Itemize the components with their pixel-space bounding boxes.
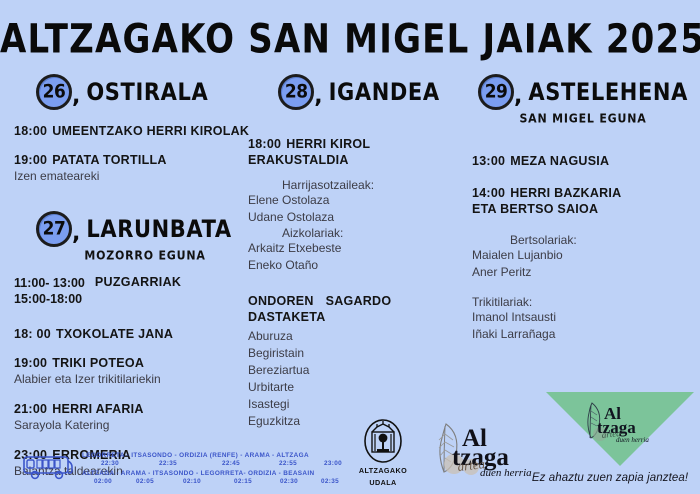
event-label: HERRI AFARIA [52, 402, 143, 416]
bus-time: 02:00 [82, 478, 124, 485]
event-28-cider: ONDORENSAGARDO DASTAKETA [248, 293, 470, 325]
list-item: Bereziartua [248, 362, 470, 379]
bus-route-1: LEGORRETA - ITSASONDO - ORDIZIA (RENFE) … [82, 452, 354, 467]
day-number-28: 28 [285, 81, 308, 103]
list-item: Isastegi [248, 396, 470, 413]
bus-time: 22:35 [138, 460, 198, 467]
list-item: Udane Ostolaza [248, 209, 470, 226]
event-26-1: 18:00UMEENTZAKO HERRI KIROLAK [14, 123, 250, 139]
group-label-trikitilariak: Trikitilariak: [472, 295, 694, 309]
page-title: ALTZAGAKO SAN MIGEL JAIAK 2025 [0, 16, 700, 63]
name-list-trikitilariak: Imanol Intsausti Iñaki Larrañaga [472, 309, 694, 343]
day-number-badge-26: 26 [36, 74, 72, 110]
group-label-aizkolariak: Aizkolariak: [248, 226, 470, 240]
event-time-1: 11:00- 13:00 [14, 275, 85, 292]
day-comma-27: , [72, 223, 80, 247]
poster-root: ALTZAGAKO SAN MIGEL JAIAK 2025 26 , OSTI… [0, 0, 700, 494]
day-number-27: 27 [43, 218, 66, 240]
logo-udala-line1: ALTZAGAKO [352, 466, 414, 476]
scarf-altzaga-logo: Al tzaga artea duen herria [578, 400, 662, 446]
bus-time: 22:30 [82, 460, 138, 467]
column-right: 29 , ASTELEHENA SAN MIGEL EGUNA 13:00MEZ… [472, 74, 694, 343]
name-list-bertsolariak: Maialen Lujanbio Aner Peritz [472, 247, 694, 281]
day-number-badge-27: 27 [36, 211, 72, 247]
logo-udala-line2: UDALA [352, 478, 414, 488]
event-label: UMEENTZAKO HERRI KIROLAK [52, 124, 249, 138]
event-time: 19:00 [14, 153, 47, 167]
list-item: Begiristain [248, 345, 470, 362]
event-time: 13:00 [472, 154, 505, 168]
event-note: Alabier eta Izer trikitilariekin [14, 372, 250, 388]
event-label: TXOKOLATE JANA [56, 327, 173, 341]
event-time: 18:00 [248, 137, 281, 151]
bus-route-times: 22:30 22:35 22:45 22:55 23:00 [82, 460, 354, 467]
bus-routes: LEGORRETA - ITSASONDO - ORDIZIA (RENFE) … [82, 452, 354, 488]
day-comma-29: , [514, 86, 522, 110]
day-number-26: 26 [43, 81, 66, 103]
bus-icon [22, 454, 74, 487]
group-label-harrijasotzaileak: Harrijasotzaileak: [248, 178, 470, 192]
coat-of-arms-icon [363, 418, 403, 464]
list-item: Aner Peritz [472, 264, 694, 281]
bus-route-stops: ALTZAGA - ARAMA - ITSASONDO - LEGORRETA-… [82, 470, 354, 477]
name-list-sagardotegiak: Aburuza Begiristain Bereziartua Urbitart… [248, 328, 470, 430]
cider-heading-a: ONDOREN [248, 294, 314, 308]
bus-time: 22:55 [264, 460, 312, 467]
group-label-bertsolariak: Bertsolariak: [472, 233, 694, 247]
day-heading-29: 29 , ASTELEHENA [472, 74, 694, 110]
bus-time: 02:10 [166, 478, 218, 485]
event-label: PATATA TORTILLA [52, 153, 166, 167]
day-name-28: IGANDEA [329, 78, 440, 106]
column-left: 26 , OSTIRALA 18:00UMEENTZAKO HERRI KIRO… [14, 74, 250, 479]
event-label: MEZA NAGUSIA [510, 154, 609, 168]
event-time-2: 15:00-18:00 [14, 291, 85, 308]
day-heading-27: 27 , LARUNBATA [14, 211, 250, 247]
list-item: Maialen Lujanbio [472, 247, 694, 264]
name-list-harrijasotzaileak: Elene Ostolaza Udane Ostolaza [248, 192, 470, 226]
list-item: Aburuza [248, 328, 470, 345]
bus-schedule: LEGORRETA - ITSASONDO - ORDIZIA (RENFE) … [22, 452, 354, 488]
list-item: Imanol Intsausti [472, 309, 694, 326]
event-time: 18: 00 [14, 327, 51, 341]
list-item: Eneko Otaño [248, 257, 470, 274]
event-time: 14:00 [472, 186, 505, 200]
day-name-29: ASTELEHENA [528, 78, 688, 106]
event-27-puzgarriak: 11:00- 13:00 15:00-18:00 PUZGARRIAK [14, 275, 250, 309]
event-note: Sarayola Katering [14, 418, 250, 434]
list-item: Urbitarte [248, 379, 470, 396]
bus-time: 02:30 [268, 478, 310, 485]
bus-time: 02:35 [310, 478, 350, 485]
day-number-badge-29: 29 [478, 74, 514, 110]
bus-route-times: 02:00 02:05 02:10 02:15 02:30 02:35 [82, 478, 354, 485]
bus-time: 02:15 [218, 478, 268, 485]
day-heading-26: 26 , OSTIRALA [14, 74, 250, 110]
event-27-2: 19:00TRIKI POTEOA Alabier eta Izer triki… [14, 355, 250, 388]
event-27-1: 18: 00TXOKOLATE JANA [14, 326, 250, 342]
day-number-29: 29 [485, 81, 508, 103]
bus-route-2: ALTZAGA - ARAMA - ITSASONDO - LEGORRETA-… [82, 470, 354, 485]
logo-altzaga-artea: Al tzaga artea duen herria [424, 418, 534, 480]
scarf-caption: Ez ahaztu zuen zapia janztea! [520, 472, 700, 484]
event-note: Izen emateareki [14, 169, 250, 185]
day-name-26: OSTIRALA [86, 78, 208, 106]
day-number-badge-28: 28 [278, 74, 314, 110]
bus-route-stops: LEGORRETA - ITSASONDO - ORDIZIA (RENFE) … [82, 452, 354, 459]
logo-altzagako-udala: ALTZAGAKO UDALA [352, 418, 414, 487]
event-label: PUZGARRIAK [95, 275, 181, 289]
bus-time: 23:00 [312, 460, 354, 467]
day-subtitle-27: MOZORRO EGUNA [14, 248, 250, 263]
event-time: 19:00 [14, 356, 47, 370]
day-comma-28: , [314, 86, 322, 110]
name-list-aizkolariak: Arkaitz Etxebeste Eneko Otaño [248, 240, 470, 274]
day-heading-28: 28 , IGANDEA [248, 74, 470, 110]
event-26-2: 19:00PATATA TORTILLA Izen emateareki [14, 152, 250, 185]
day-subtitle-29: SAN MIGEL EGUNA [472, 111, 694, 126]
column-middle: 28 , IGANDEA 18:00HERRI KIROL ERAKUSTALD… [248, 74, 470, 430]
event-29-2: 14:00HERRI BAZKARIA ETA BERTSO SAIOA [472, 185, 694, 217]
list-item: Arkaitz Etxebeste [248, 240, 470, 257]
event-time: 21:00 [14, 402, 47, 416]
day-comma-26: , [72, 86, 80, 110]
list-item: Elene Ostolaza [248, 192, 470, 209]
list-item: Iñaki Larrañaga [472, 326, 694, 343]
event-label: TRIKI POTEOA [52, 356, 144, 370]
event-28-1: 18:00HERRI KIROL ERAKUSTALDIA [248, 136, 470, 168]
svg-text:duen herria: duen herria [616, 436, 649, 444]
event-time: 18:00 [14, 124, 47, 138]
event-27-3: 21:00HERRI AFARIA Sarayola Katering [14, 401, 250, 434]
scarf-triangle: Al tzaga artea duen herria [546, 392, 694, 466]
bus-time: 22:45 [198, 460, 264, 467]
event-29-1: 13:00MEZA NAGUSIA [472, 153, 694, 169]
day-name-27: LARUNBATA [86, 215, 231, 243]
bus-time: 02:05 [124, 478, 166, 485]
